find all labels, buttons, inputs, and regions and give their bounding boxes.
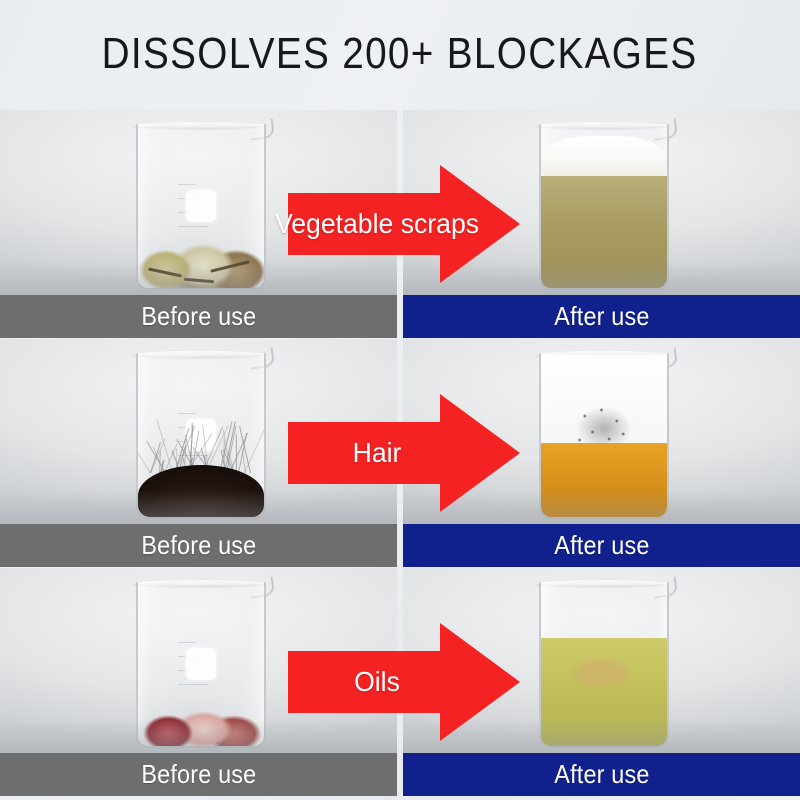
before-photo-oils [0,568,397,753]
caption-after-use: After use [403,524,800,567]
caption-label: After use [554,301,649,332]
caption-label: Before use [141,301,256,332]
beaker-body [539,124,669,290]
comparison-row-vegetable-scraps: Before use After use [0,110,800,338]
after-photo-oils [403,568,800,753]
caption-before-use: Before use [0,753,397,796]
beaker [539,345,665,517]
comparison-row-hair: Before use After use [0,339,800,567]
beaker-contents-tan-liquid [541,176,667,288]
beaker-body [539,582,669,748]
product-comparison-poster: DISSOLVES 200+ BLOCKAGES [0,0,800,800]
caption-label: After use [554,759,649,790]
caption-label: Before use [141,759,256,790]
beaker-label-patch [186,648,216,680]
beaker [539,116,665,288]
after-panel-oils: After use [403,568,800,796]
beaker-label-patch [186,190,216,222]
beaker-body [136,582,266,748]
beaker-contents-meat-fat [138,712,264,746]
foam-layer [541,136,667,176]
hair-strands [138,407,264,473]
caption-after-use: After use [403,295,800,338]
title-area: DISSOLVES 200+ BLOCKAGES [0,0,800,108]
caption-label: After use [554,530,649,561]
before-panel-hair: Before use [0,339,397,567]
beaker [136,345,262,517]
before-photo-vegetable-scraps [0,110,397,295]
beaker-contents-olive-liquid [541,638,667,746]
before-panel-vegetable-scraps: Before use [0,110,397,338]
suspended-residue [575,660,627,686]
beaker [539,574,665,746]
beaker-contents-vegetable-scraps [138,240,264,288]
after-photo-vegetable-scraps [403,110,800,295]
before-panel-oils: Before use [0,568,397,796]
after-panel-vegetable-scraps: After use [403,110,800,338]
beaker-body [136,124,266,290]
caption-after-use: After use [403,753,800,796]
beaker [136,574,262,746]
caption-before-use: Before use [0,295,397,338]
caption-label: Before use [141,530,256,561]
page-title: DISSOLVES 200+ BLOCKAGES [102,32,698,76]
before-photo-hair [0,339,397,524]
caption-before-use: Before use [0,524,397,567]
comparison-row-oils: Before use After u [0,568,800,796]
beaker-body [539,353,669,519]
beaker-contents-amber-liquid [541,443,667,517]
beaker-contents-hair-clump [138,465,264,517]
beaker [136,116,262,288]
after-photo-hair [403,339,800,524]
beaker-body [136,353,266,519]
comparison-grid: Before use After use [0,110,800,796]
after-panel-hair: After use [403,339,800,567]
